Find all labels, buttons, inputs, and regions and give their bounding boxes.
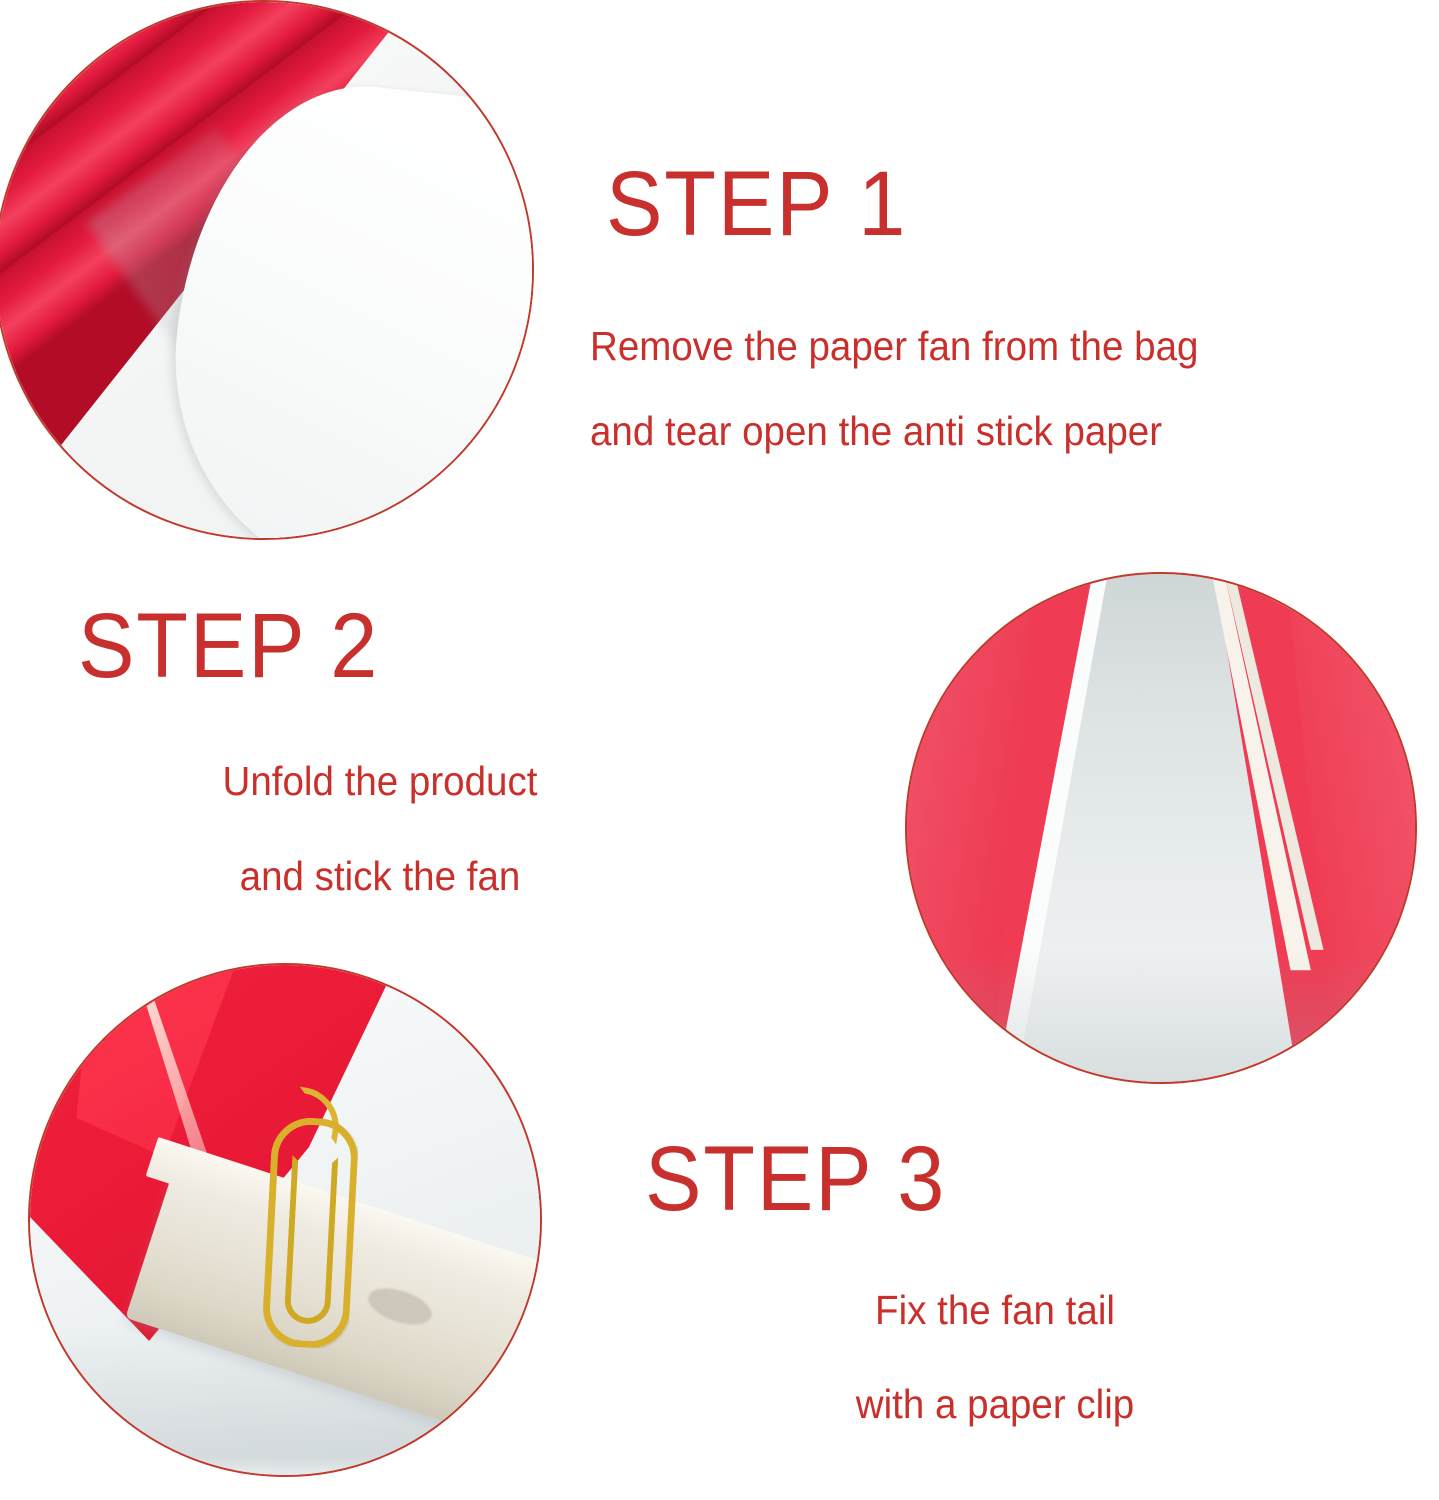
step-1-heading: STEP 1 [606,158,907,250]
step-3-description-line-2: with a paper clip [624,1384,1367,1425]
step-3-heading: STEP 3 [645,1133,946,1225]
step-2-heading: STEP 2 [78,600,379,692]
photo-unfolded-fan [905,572,1417,1084]
step-1-description-line-2: and tear open the anti stick paper [590,411,1162,452]
step-2-description-line-1: Unfold the product [23,761,737,802]
step-2-description-line-2: and stick the fan [23,856,737,897]
photo-fan-tail-paperclip [28,963,542,1477]
photo-fan-in-bag [0,0,534,540]
instruction-infographic: STEP 1 Remove the paper fan from the bag… [0,0,1439,1500]
paperclip-icon-inner-loop [283,1155,338,1325]
step-3-description-line-1: Fix the fan tail [624,1290,1367,1331]
step-1-description-line-1: Remove the paper fan from the bag [590,326,1198,367]
base-shadow [907,950,1415,1082]
